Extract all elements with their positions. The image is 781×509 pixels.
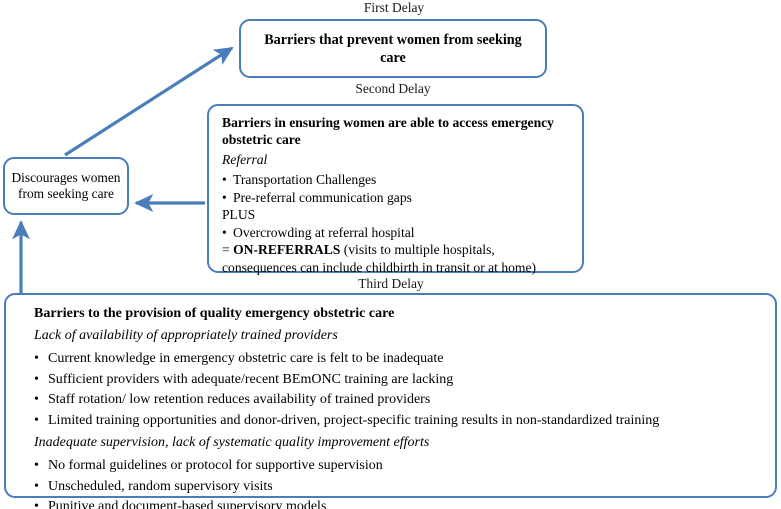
second-delay-subheading: Referral: [222, 151, 570, 168]
conclusion-strong: ON-REFERRALS: [233, 242, 340, 257]
third-delay-bullet: Punitive and document-based supervisory …: [34, 497, 761, 509]
second-delay-title: Barriers in ensuring women are able to a…: [222, 115, 570, 148]
third-delay-title: Barriers to the provision of quality eme…: [34, 305, 761, 323]
second-delay-connector: PLUS: [222, 206, 570, 224]
discourages-women-text: Discourages women from seeking care: [5, 170, 127, 203]
third-delay-bullet: Unscheduled, random supervisory visits: [34, 477, 761, 498]
third-delay-box[interactable]: Barriers to the provision of quality eme…: [4, 293, 777, 498]
second-delay-bullet: Overcrowding at referral hospital: [222, 224, 570, 242]
third-delay-bullet: No formal guidelines or protocol for sup…: [34, 456, 761, 477]
first-delay-title: Barriers that prevent women from seeking…: [241, 31, 545, 67]
third-delay-bullet: Staff rotation/ low retention reduces av…: [34, 390, 761, 411]
second-delay-bullet: Pre-referral communication gaps: [222, 189, 570, 207]
diagram-canvas: First Delay Second Delay Third Delay Bar…: [0, 0, 781, 509]
third-delay-subheading-2: Inadequate supervision, lack of systemat…: [34, 433, 761, 453]
second-delay-box[interactable]: Barriers in ensuring women are able to a…: [207, 104, 584, 273]
conclusion-prefix: =: [222, 242, 233, 257]
label-third-delay: Third Delay: [306, 276, 476, 291]
third-delay-bullet: Current knowledge in emergency obstetric…: [34, 349, 761, 370]
label-second-delay: Second Delay: [313, 81, 473, 96]
third-delay-bullet: Sufficient providers with adequate/recen…: [34, 370, 761, 391]
third-delay-bullet: Limited training opportunities and donor…: [34, 411, 761, 432]
second-delay-conclusion: = ON-REFERRALS (visits to multiple hospi…: [222, 241, 570, 276]
label-first-delay: First Delay: [319, 0, 469, 15]
second-delay-bullet: Transportation Challenges: [222, 171, 570, 189]
third-delay-subheading-1: Lack of availability of appropriately tr…: [34, 326, 761, 346]
first-delay-box[interactable]: Barriers that prevent women from seeking…: [239, 19, 547, 78]
discourages-women-box[interactable]: Discourages women from seeking care: [3, 157, 129, 215]
